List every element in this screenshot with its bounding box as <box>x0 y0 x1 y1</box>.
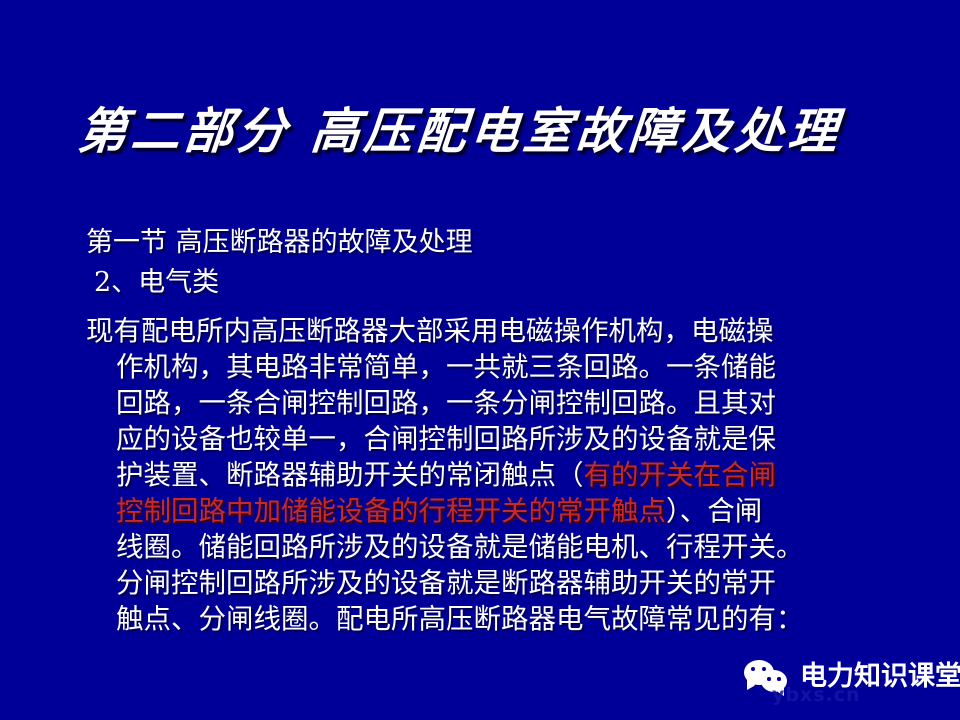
body-text-line: 分闸控制回路所涉及的设备就是断路器辅助开关的常开 <box>86 565 926 601</box>
site-watermark: ybxs.cn <box>772 684 861 706</box>
wechat-dot <box>767 677 771 681</box>
text-run: 护装置、断路器辅助开关的常闭触点（ <box>116 459 584 491</box>
body-text-line: 线圈。储能回路所涉及的设备就是储能电机、行程开关。 <box>86 529 926 565</box>
wechat-dot <box>751 667 755 671</box>
wechat-dot <box>777 677 781 681</box>
highlighted-text-run: 控制回路中加储能设备的行程开关的常开触点 <box>116 495 666 527</box>
slide-title: 第二部分 高压配电室故障及处理 <box>75 96 881 168</box>
subsection-heading: 2、电气类 <box>94 266 219 300</box>
body-text-line: 护装置、断路器辅助开关的常闭触点（有的开关在合闸 <box>86 457 926 493</box>
body-text-line: 现有配电所内高压断路器大部采用电磁操作机构，电磁操 <box>86 313 926 349</box>
text-run: 作机构，其电路非常简单，一共就三条回路。一条储能 <box>116 351 776 383</box>
body-text-line: 回路，一条合闸控制回路，一条分闸控制回路。且其对 <box>86 385 926 421</box>
text-run: 分闸控制回路所涉及的设备就是断路器辅助开关的常开 <box>116 567 776 599</box>
section-heading: 第一节 高压断路器的故障及处理 <box>86 226 473 260</box>
wechat-dot <box>762 667 766 671</box>
highlighted-text-run: 有的开关在合闸 <box>584 459 777 491</box>
body-text-line: 触点、分闸线圈。配电所高压断路器电气故障常见的有： <box>86 601 926 637</box>
body-text-line: 应的设备也较单一，合闸控制回路所涉及的设备就是保 <box>86 421 926 457</box>
body-text-line: 作机构，其电路非常简单，一共就三条回路。一条储能 <box>86 349 926 385</box>
text-run: ）、合闸 <box>666 495 762 527</box>
text-run: 回路，一条合闸控制回路，一条分闸控制回路。且其对 <box>116 387 776 419</box>
text-run: 应的设备也较单一，合闸控制回路所涉及的设备就是保 <box>116 423 776 455</box>
text-run: 触点、分闸线圈。配电所高压断路器电气故障常见的有： <box>116 603 804 635</box>
slide-body-text: 现有配电所内高压断路器大部采用电磁操作机构，电磁操作机构，其电路非常简单，一共就… <box>86 313 926 637</box>
text-run: 现有配电所内高压断路器大部采用电磁操作机构，电磁操 <box>86 315 774 347</box>
body-text-line: 控制回路中加储能设备的行程开关的常开触点）、合闸 <box>86 493 926 529</box>
presentation-slide: 第二部分 高压配电室故障及处理 第一节 高压断路器的故障及处理 2、电气类 现有… <box>0 0 960 720</box>
text-run: 线圈。储能回路所涉及的设备就是储能电机、行程开关。 <box>116 531 804 563</box>
